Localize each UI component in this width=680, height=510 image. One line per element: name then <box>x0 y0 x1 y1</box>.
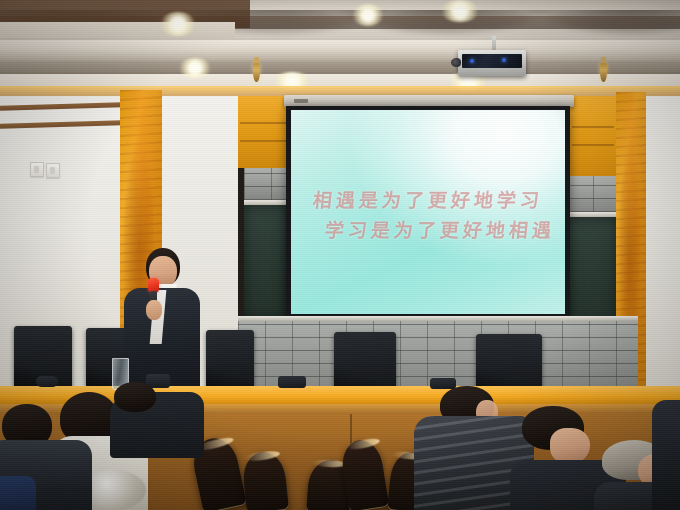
ceiling <box>0 0 680 96</box>
stone-wall-right-upper <box>566 176 616 212</box>
wood-panel-right-line-1 <box>572 126 614 128</box>
ceiling-beam-main <box>0 40 680 62</box>
light-switch-1[interactable] <box>30 162 44 177</box>
ceiling-projector[interactable] <box>458 50 526 76</box>
ceiling-plank-left <box>0 22 235 38</box>
stone-wall-left-upper <box>244 168 286 200</box>
presenter <box>118 248 204 394</box>
slide-line-1: 相遇是为了更好地学习 <box>291 186 565 213</box>
stage-chair-1[interactable] <box>206 330 254 388</box>
blackboard-left <box>244 205 288 320</box>
recessed-light-4 <box>440 0 480 22</box>
stone-texture <box>244 168 286 200</box>
audience-5-face <box>550 428 590 464</box>
wood-panel-right <box>570 96 616 176</box>
wood-panel-left <box>238 96 288 168</box>
slide-line-2: 学习是为了更好地相遇 <box>291 216 565 243</box>
audience-member-3 <box>110 384 206 462</box>
recessed-light-1 <box>160 12 196 36</box>
light-switch-2[interactable] <box>46 163 60 178</box>
wood-panel-right-line-2 <box>572 144 614 146</box>
tabletop-object-2[interactable] <box>36 376 58 387</box>
stone-texture-right <box>566 176 616 212</box>
stone-band-rail <box>238 316 638 321</box>
track-spot-light-right <box>600 62 607 82</box>
lecture-hall-photo: 相遇是为了更好地学习 学习是为了更好地相遇 <box>0 0 680 510</box>
blackboard-right <box>562 217 618 327</box>
wood-panel-left-line-2 <box>240 140 286 142</box>
projector-indicator-2 <box>502 58 506 62</box>
audience-7-torso <box>652 400 680 510</box>
projector-lens <box>451 58 461 67</box>
recessed-light-3 <box>352 4 384 26</box>
audience-member-7 <box>652 400 680 510</box>
recessed-light-2 <box>178 58 212 78</box>
track-spot-light-left <box>253 62 260 82</box>
audience-2-bag <box>0 476 36 510</box>
tabletop-object-3[interactable] <box>278 376 306 388</box>
wood-panel-left-line-1 <box>240 122 286 124</box>
projector-indicator-1 <box>470 59 474 63</box>
stage-chair-3[interactable] <box>476 334 542 392</box>
audience-member-2 <box>0 404 96 510</box>
wall-right <box>646 96 680 406</box>
presenter-hand <box>146 300 162 320</box>
stage-chair-2[interactable] <box>334 332 396 392</box>
audience-3-head <box>114 382 156 412</box>
ceiling-beam-shadow <box>0 62 680 74</box>
projection-screen-surface[interactable]: 相遇是为了更好地学习 学习是为了更好地相遇 <box>291 110 565 314</box>
